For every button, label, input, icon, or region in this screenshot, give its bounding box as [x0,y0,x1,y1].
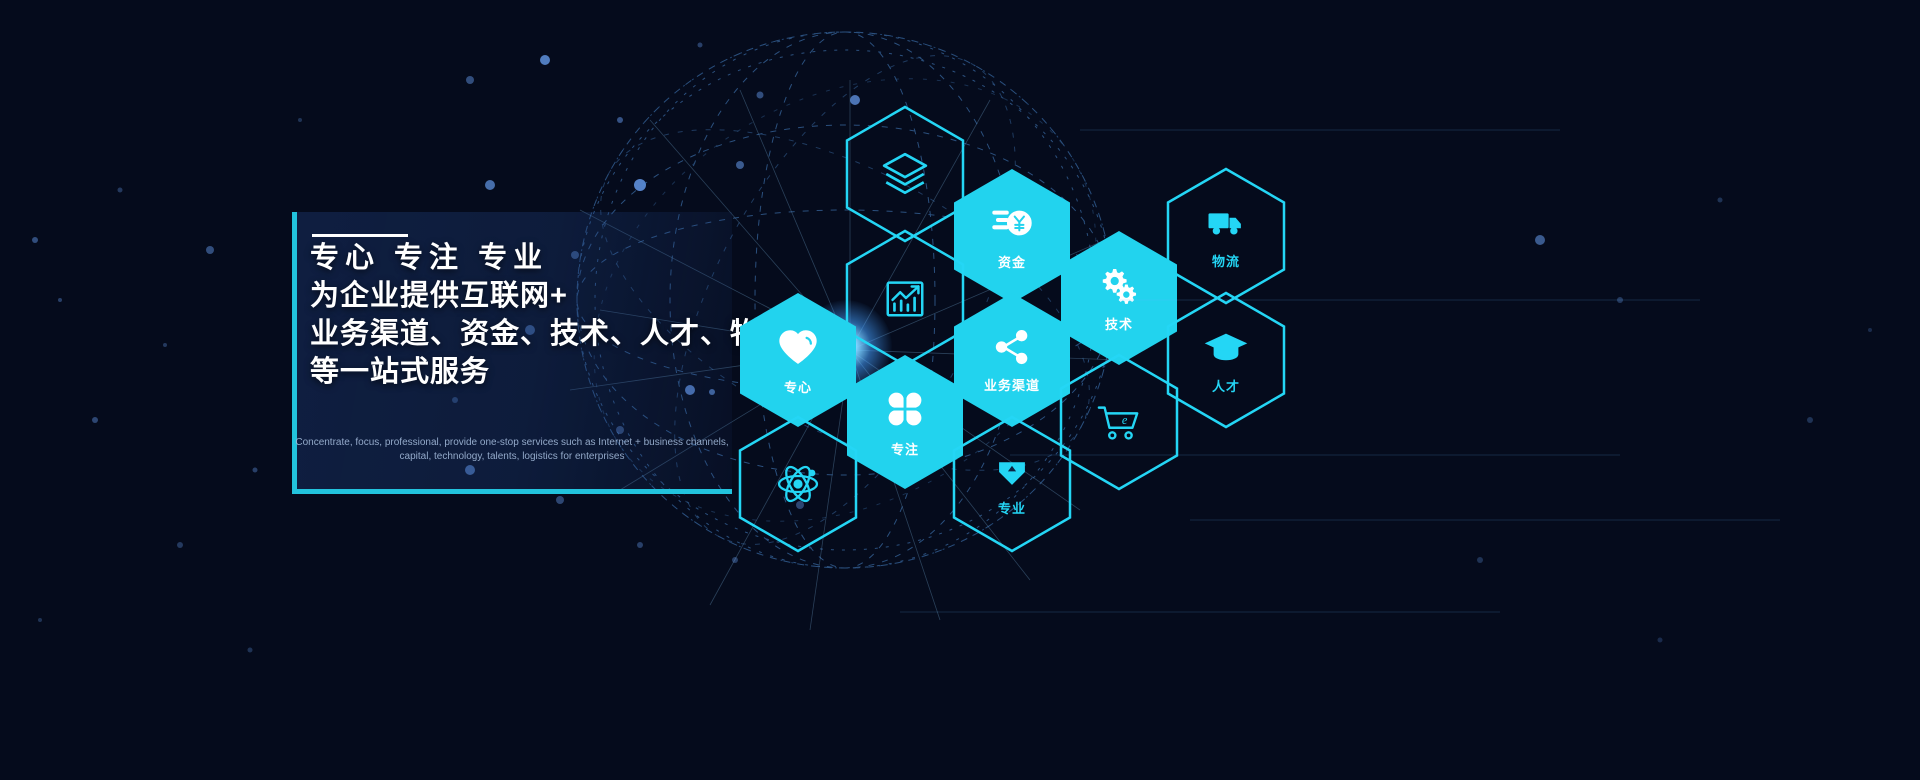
hero-banner: 专心 专注 专业 为企业提供互联网+ 业务渠道、资金、技术、人才、物流 等一站式… [0,0,1920,780]
scanlines-decoration [0,0,1920,780]
